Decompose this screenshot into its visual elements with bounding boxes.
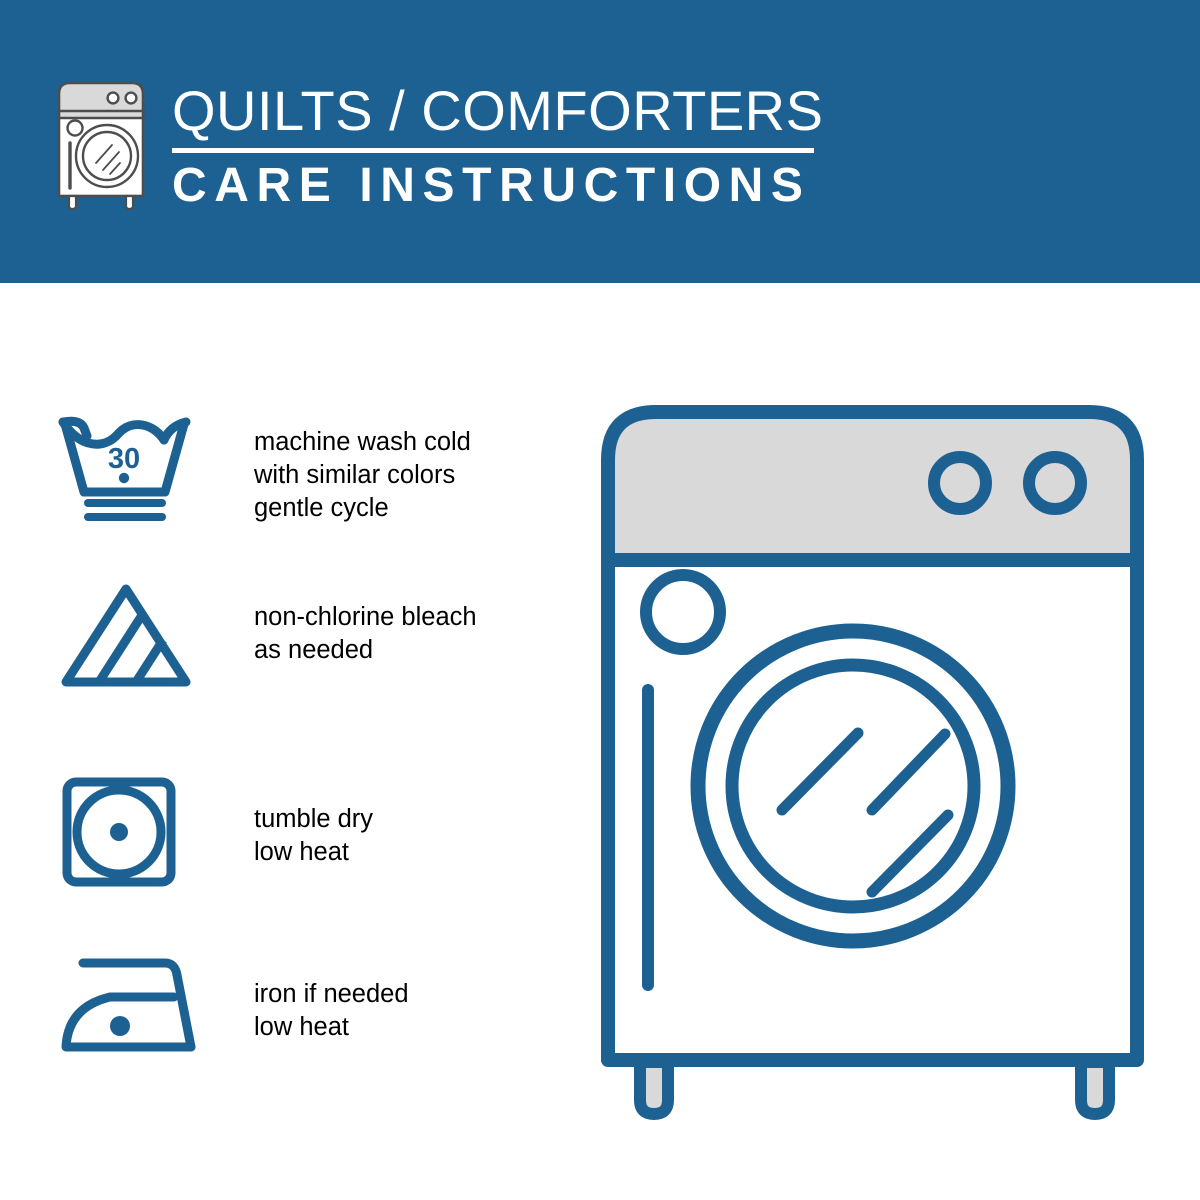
- care-label-line: machine wash cold: [254, 426, 471, 459]
- care-label-line: gentle cycle: [254, 492, 471, 525]
- care-instructions-list: 30 machine wash cold with similar colors…: [0, 283, 560, 1200]
- low-heat-dot: [110, 1016, 130, 1036]
- large-washing-machine-illustration: [600, 400, 1170, 1120]
- care-label-bleach: non-chlorine bleach as needed: [254, 601, 477, 667]
- care-label-tumble-dry: tumble dry low heat: [254, 803, 373, 869]
- iron-icon: [58, 951, 198, 1061]
- indicator-light: [646, 575, 720, 649]
- page-title: QUILTS / COMFORTERS: [172, 80, 832, 142]
- header-banner: QUILTS / COMFORTERS CARE INSTRUCTIONS: [0, 0, 1200, 283]
- knob-left[interactable]: [934, 457, 986, 509]
- tumble-dry-icon: [58, 777, 198, 887]
- leg-left: [640, 1062, 668, 1114]
- non-chlorine-bleach-triangle-icon: [58, 584, 198, 694]
- washing-machine-icon: [55, 78, 163, 213]
- care-label-line: as needed: [254, 634, 477, 667]
- care-label-wash: machine wash cold with similar colors ge…: [254, 426, 471, 525]
- gentle-cycle-dot: [119, 473, 129, 483]
- care-label-iron: iron if needed low heat: [254, 978, 409, 1044]
- low-heat-dot: [110, 823, 128, 841]
- title-divider: [172, 148, 814, 153]
- care-label-line: low heat: [254, 1011, 409, 1044]
- knob-right[interactable]: [1029, 457, 1081, 509]
- care-label-line: with similar colors: [254, 459, 471, 492]
- page-subtitle: CARE INSTRUCTIONS: [172, 160, 832, 212]
- care-label-line: tumble dry: [254, 803, 373, 836]
- header-title-group: QUILTS / COMFORTERS CARE INSTRUCTIONS: [172, 80, 832, 212]
- care-label-line: non-chlorine bleach: [254, 601, 477, 634]
- leg-right: [1081, 1062, 1109, 1114]
- door-inner-ring: [732, 665, 974, 907]
- care-label-line: iron if needed: [254, 978, 409, 1011]
- wash-temperature-label: 30: [108, 443, 140, 475]
- machine-wash-tub-icon: 30: [58, 414, 198, 524]
- care-label-line: low heat: [254, 836, 373, 869]
